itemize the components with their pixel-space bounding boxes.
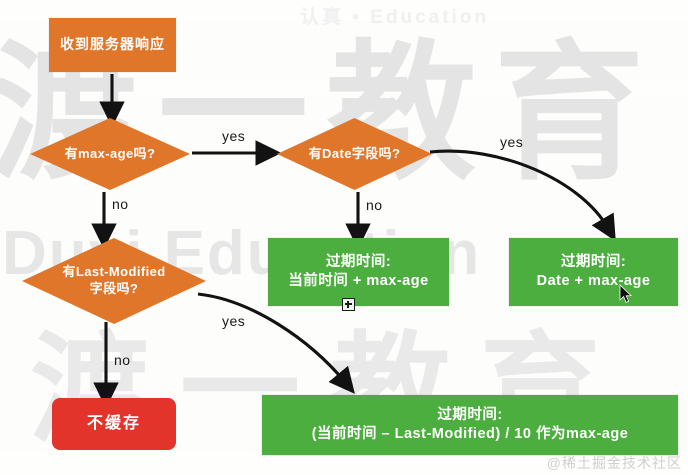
edge-label-maxage-yes: yes — [222, 128, 245, 144]
node-start-server-response[interactable]: 收到服务器响应 — [49, 18, 176, 72]
result-no-cache-label: 不缓存 — [87, 414, 141, 434]
edge-label-date-no: no — [366, 197, 383, 213]
node-decision-date-label: 有Date字段吗? — [309, 146, 401, 163]
node-result-current-plus-maxage[interactable]: 过期时间: 当前时间 + max-age — [268, 238, 449, 306]
result-date-line2: Date + max-age — [537, 272, 651, 291]
flowchart-canvas: 认真 • Education 渡一教育 Duyi Education 渡一教育 … — [0, 0, 688, 475]
video-band-bottom — [0, 452, 688, 475]
edge-label-lastmodified-yes: yes — [222, 313, 245, 329]
arrow-lastmodified-yes-to-formula — [198, 294, 345, 382]
node-decision-has-last-modified[interactable]: 有Last-Modified 字段吗? — [22, 238, 206, 324]
video-band-top — [0, 0, 688, 20]
resize-handle-icon[interactable] — [342, 298, 355, 311]
arrow-date-yes-to-datemaxage — [430, 151, 608, 228]
node-decision-has-max-age[interactable]: 有max-age吗? — [30, 118, 190, 190]
node-decision-has-date-field[interactable]: 有Date字段吗? — [277, 118, 432, 190]
node-decision-max-age-label: 有max-age吗? — [65, 146, 156, 163]
edge-label-lastmodified-no: no — [114, 352, 131, 368]
node-decision-last-modified-line2: 字段吗? — [90, 281, 139, 298]
result-current-line2: 当前时间 + max-age — [288, 272, 428, 291]
node-decision-last-modified-line1: 有Last-Modified — [62, 264, 165, 281]
edge-label-date-yes: yes — [500, 134, 523, 150]
result-current-line1: 过期时间: — [326, 253, 391, 272]
result-date-line1: 过期时间: — [561, 253, 626, 272]
watermark-corner-credit: @稀土掘金技术社区 — [547, 453, 682, 473]
video-band-mid — [0, 80, 688, 96]
edge-label-maxage-no: no — [112, 196, 129, 212]
result-formula-line2: (当前时间 – Last-Modified) / 10 作为max-age — [312, 425, 629, 444]
node-result-date-plus-maxage[interactable]: 过期时间: Date + max-age — [509, 238, 678, 306]
node-result-no-cache[interactable]: 不缓存 — [52, 398, 176, 450]
node-result-last-modified-formula[interactable]: 过期时间: (当前时间 – Last-Modified) / 10 作为max-… — [262, 395, 678, 455]
watermark-top-text: 认真 • Education — [300, 2, 489, 29]
mouse-cursor-icon — [619, 284, 633, 304]
node-start-label: 收到服务器响应 — [60, 36, 165, 54]
result-formula-line1: 过期时间: — [437, 406, 502, 425]
